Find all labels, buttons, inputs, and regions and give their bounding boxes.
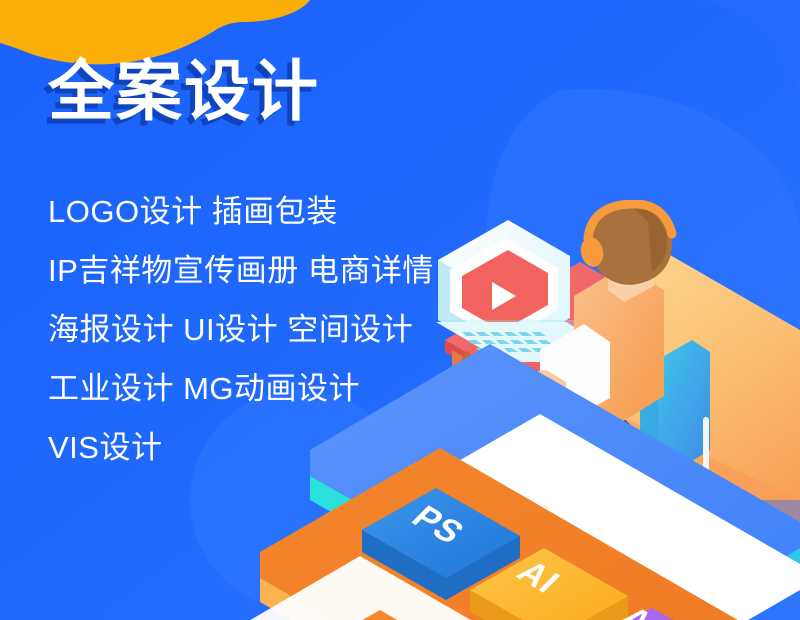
illustration-svg bbox=[240, 200, 800, 620]
page-title: 全案设计 bbox=[48, 58, 320, 124]
poster-canvas: 全案设计 LOGO设计 插画包装 IP吉祥物宣传画册 电商详情 海报设计 UI设… bbox=[0, 0, 800, 620]
isometric-illustration bbox=[240, 200, 800, 620]
